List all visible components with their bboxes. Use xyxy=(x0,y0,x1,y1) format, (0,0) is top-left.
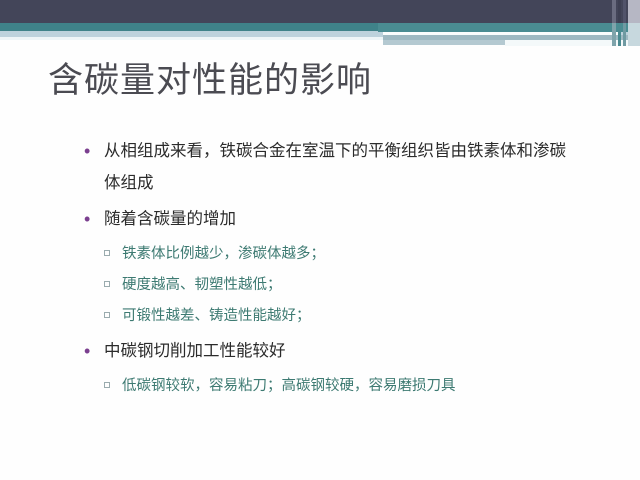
sub-bullet-text: 铁素体比例越少，渗碳体越多； xyxy=(122,246,325,262)
sub-bullet-square-icon xyxy=(104,281,110,287)
sub-bullet-text: 低碳钢较软，容易粘刀；高碳钢较硬，容易磨损刀具 xyxy=(122,378,456,394)
sub-bullet-text: 硬度越高、韧塑性越低； xyxy=(122,277,282,293)
sub-bullet-square-icon xyxy=(104,250,110,256)
bullet-item-2: • 随着含碳量的增加 xyxy=(0,203,640,235)
sub-bullet-item-1: 铁素体比例越少，渗碳体越多； xyxy=(0,239,640,270)
bullet-marker-icon: • xyxy=(84,135,90,167)
sub-bullet-text: 可锻性越差、铸造性能越好； xyxy=(122,308,311,324)
slide-header-decoration xyxy=(0,0,640,60)
header-vertical-stripe-lower-2 xyxy=(618,23,621,46)
sub-bullet-item-3: 可锻性越差、铸造性能越好； xyxy=(0,301,640,332)
header-vertical-stripe-lower-3 xyxy=(623,23,626,46)
slide-body: • 从相组成来看，铁碳合金在室温下的平衡组织皆由铁素体和渗碳体组成 • 随着含碳… xyxy=(0,135,640,402)
bullet-marker-icon: • xyxy=(84,335,90,367)
header-vertical-stripe-lower-4 xyxy=(628,23,640,46)
sub-bullet-square-icon xyxy=(104,382,110,388)
header-vertical-stripe-lower-1 xyxy=(612,23,616,46)
slide-title: 含碳量对性能的影响 xyxy=(48,58,372,104)
bullet-text: 中碳钢切削加工性能较好 xyxy=(104,342,286,360)
bullet-marker-icon: • xyxy=(84,203,90,235)
bullet-text: 从相组成来看，铁碳合金在室温下的平衡组织皆由铁素体和渗碳体组成 xyxy=(104,142,566,192)
bullet-text: 随着含碳量的增加 xyxy=(104,210,236,228)
presentation-slide: 含碳量对性能的影响 • 从相组成来看，铁碳合金在室温下的平衡组织皆由铁素体和渗碳… xyxy=(0,0,640,480)
bullet-item-3: • 中碳钢切削加工性能较好 xyxy=(0,335,640,367)
header-navy-band xyxy=(0,0,640,23)
sub-bullet-square-icon xyxy=(104,312,110,318)
sub-bullet-item-4: 低碳钢较软，容易粘刀；高碳钢较硬，容易磨损刀具 xyxy=(0,371,640,402)
bullet-item-1: • 从相组成来看，铁碳合金在室温下的平衡组织皆由铁素体和渗碳体组成 xyxy=(0,135,640,199)
sub-bullet-item-2: 硬度越高、韧塑性越低； xyxy=(0,270,640,301)
header-accent-steel-bar-lower xyxy=(383,40,505,45)
header-accent-teal-bar xyxy=(378,23,640,32)
